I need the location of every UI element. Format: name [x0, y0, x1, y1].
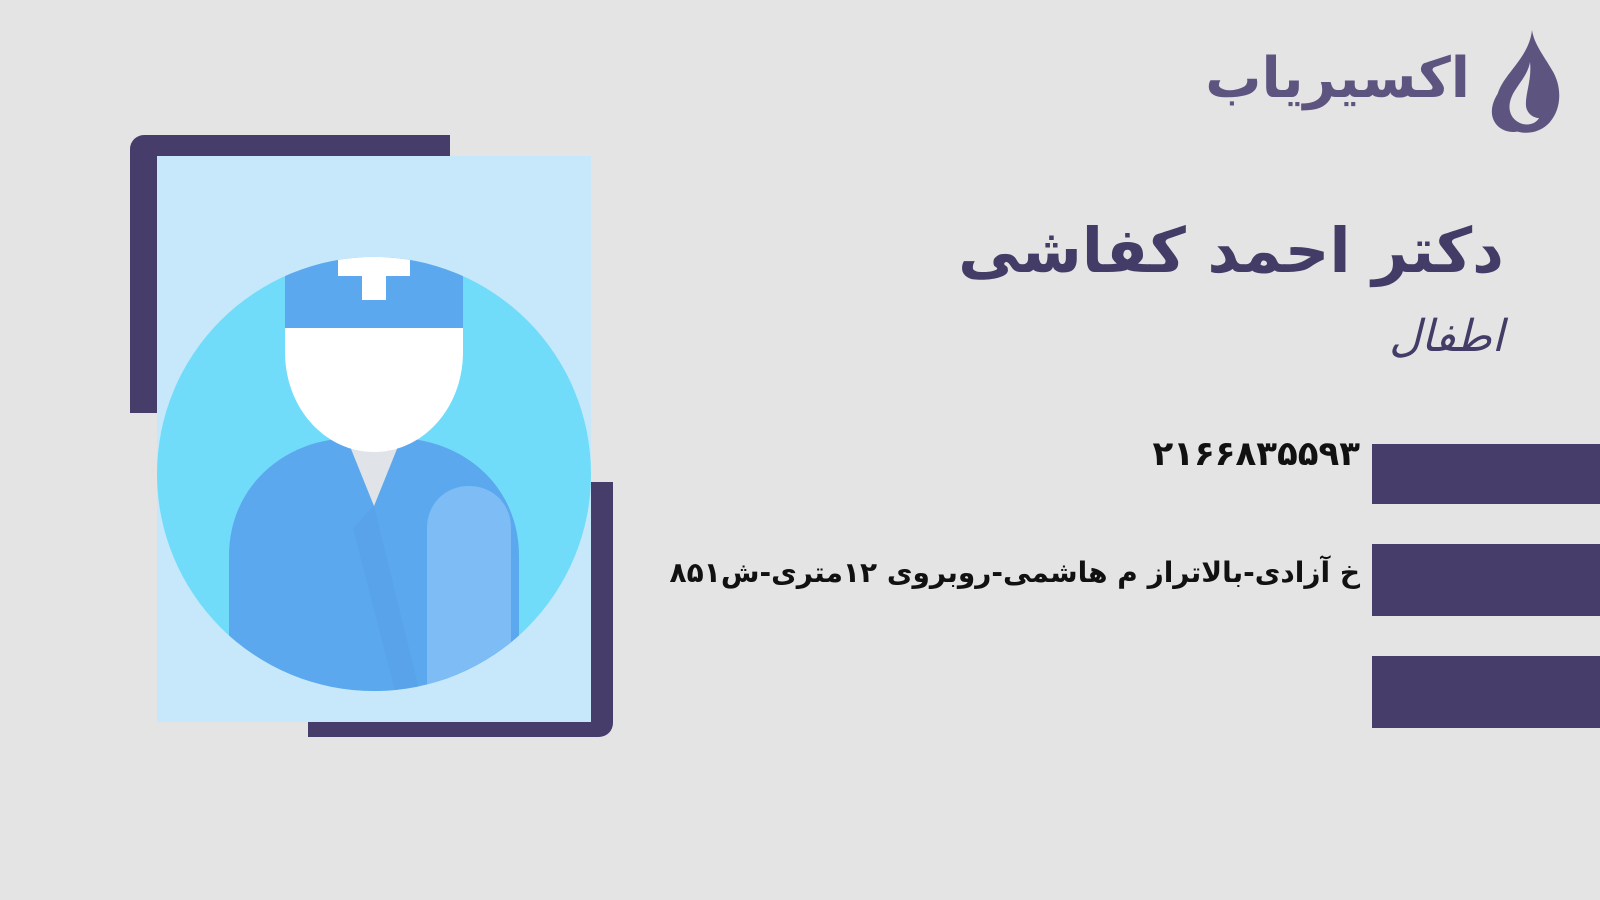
brand-logo: اکسیریاب [1205, 28, 1566, 138]
decorative-bar [1372, 656, 1600, 728]
doctor-info: دکتر احمد کفاشی اطفال [624, 212, 1504, 365]
doctor-phone[interactable]: ۲۱۶۶۸۳۵۵۹۳ [1152, 434, 1360, 474]
doctor-address: خ آزادی-بالاتراز م هاشمی-روبروی ۱۲متری-ش… [670, 556, 1360, 589]
decorative-bar [1372, 544, 1600, 616]
doctor-specialty: اطفال [624, 308, 1504, 365]
doctor-avatar-card [157, 156, 591, 722]
flame-droplet-icon [1480, 28, 1566, 138]
brand-name: اکسیریاب [1205, 51, 1470, 107]
doctor-avatar-icon [157, 156, 591, 722]
doctor-illustration [0, 0, 680, 900]
doctor-profile-card: اکسیریاب [0, 0, 1600, 900]
doctor-name: دکتر احمد کفاشی [624, 212, 1504, 290]
decorative-bars [1372, 444, 1600, 728]
decorative-bar [1372, 444, 1600, 504]
